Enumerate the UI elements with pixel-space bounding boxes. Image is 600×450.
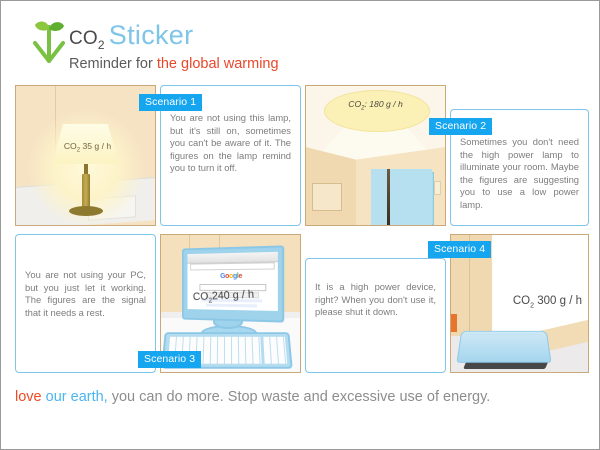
poster-header: CO2Sticker Reminder for the global warmi… — [23, 17, 543, 75]
scenario-grid: CO2 35 g / h You are not using this lamp… — [15, 85, 589, 377]
footer-tagline: love our earth, you can do more. Stop wa… — [15, 387, 587, 407]
subtitle-prefix: Reminder for — [69, 56, 157, 72]
scenario-4-description: It is a high power device, right? When y… — [315, 281, 436, 319]
sprout-leaf-icon — [23, 17, 75, 69]
monitor: Google CO2240 g / h — [182, 245, 284, 322]
scenario-1-illustration: CO2 35 g / h — [15, 85, 156, 226]
scenario-4-co2-reading: CO2 300 g / h — [513, 295, 582, 309]
browser-url-bar — [190, 262, 275, 270]
badge-scenario-4: Scenario 4 — [428, 241, 491, 258]
badge-scenario-1: Scenario 1 — [139, 94, 202, 111]
curtain-gap — [387, 169, 390, 225]
poster-page: CO2Sticker Reminder for the global warmi… — [0, 0, 600, 450]
scenario-4-text-card: It is a high power device, right? When y… — [305, 258, 446, 373]
brand-subtitle: Reminder for the global warming — [69, 56, 279, 72]
scenario-3-co2-reading: CO2240 g / h — [193, 288, 255, 305]
scenario-1-description: You are not using this lamp, but it's st… — [170, 112, 291, 175]
brand-title-line: CO2Sticker — [69, 22, 279, 58]
badge-scenario-2: Scenario 2 — [429, 118, 492, 135]
brand-block: CO2Sticker Reminder for the global warmi… — [69, 22, 279, 72]
scenario-1-co2-reading: CO2 35 g / h — [56, 141, 120, 154]
scenario-2-illustration: CO2: 180 g / h — [305, 85, 446, 226]
subtitle-highlight: the global warming — [157, 56, 279, 72]
scenario-2-co2-reading: CO2: 180 g / h — [324, 99, 428, 112]
light-switch — [434, 181, 441, 195]
lamp-pole — [82, 174, 90, 210]
device-lid — [464, 334, 544, 345]
badge-scenario-3: Scenario 3 — [138, 351, 201, 368]
scenario-3-description: You are not using your PC, but you just … — [25, 269, 146, 319]
co2-logo-text: CO2 — [69, 28, 105, 49]
monitor-screen: Google CO2240 g / h — [187, 252, 277, 311]
appliance-device — [456, 331, 551, 363]
scenario-3-text-card: You are not using your PC, but you just … — [15, 234, 156, 373]
scenario-2-description: Sometimes you don't need the high power … — [460, 136, 579, 212]
wall-picture-frame — [312, 183, 342, 211]
tagline-rest: you can do more. Stop waste and excessiv… — [108, 389, 491, 405]
tagline-earth: our earth, — [42, 389, 108, 405]
keyboard-numpad — [263, 337, 287, 364]
tagline-love: love — [15, 389, 42, 405]
lamp-base — [69, 206, 103, 216]
power-plug — [451, 314, 457, 332]
brand-name: Sticker — [109, 20, 194, 50]
curtain-right — [402, 169, 433, 225]
google-logo: Google — [187, 273, 277, 281]
